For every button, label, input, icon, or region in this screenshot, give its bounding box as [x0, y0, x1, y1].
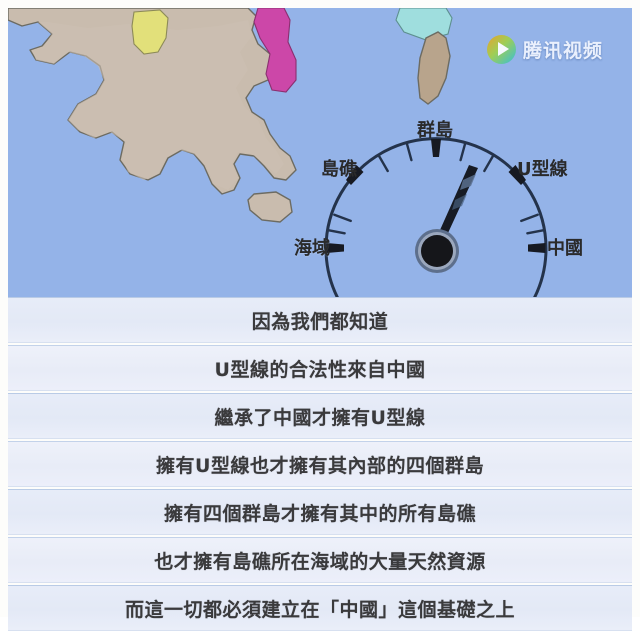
caption-row-5: 擁有四個群島才擁有其中的所有島礁 [8, 489, 632, 535]
watermark-label: 腾讯视频 [523, 36, 603, 63]
caption-text: 因為我們都知道 [252, 307, 389, 334]
gauge-label-zhongguo: 中國 [547, 234, 583, 260]
gauge-label-haiyu: 海域 [294, 234, 330, 260]
caption-text: 繼承了中國才擁有U型線 [215, 403, 426, 430]
gauge-label-daojiao: 島礁 [321, 155, 357, 181]
caption-text: 擁有U型線也才擁有其內部的四個群島 [156, 451, 484, 478]
caption-text: 擁有四個群島才擁有其中的所有島礁 [164, 499, 476, 526]
caption-row-4: 擁有U型線也才擁有其內部的四個群島 [8, 441, 632, 487]
gauge-hub-inner [421, 235, 453, 267]
caption-row-3: 繼承了中國才擁有U型線 [8, 393, 632, 439]
caption-text: 而這一切都必須建立在「中國」這個基礎之上 [125, 595, 515, 622]
gauge-label-qundao: 群島 [417, 116, 453, 142]
caption-row-6: 也才擁有島礁所在海域的大量天然資源 [8, 537, 632, 583]
caption-row-1: 因為我們都知道 [8, 297, 632, 343]
caption-row-7: 而這一切都必須建立在「中國」這個基礎之上 [8, 585, 632, 631]
caption-row-2: U型線的合法性來自中國 [8, 345, 632, 391]
caption-list: 因為我們都知道 U型線的合法性來自中國 繼承了中國才擁有U型線 擁有U型線也才擁… [8, 297, 632, 631]
caption-text: U型線的合法性來自中國 [215, 355, 426, 382]
screenshot-root: 海域 島礁 群島 U型線 中國 腾讯视频 因為我們都知道 U型線的合法性來自中國… [0, 0, 640, 617]
tencent-video-watermark: 腾讯视频 [487, 32, 622, 66]
map-illustration-panel: 海域 島礁 群島 U型線 中國 腾讯视频 [8, 8, 632, 297]
gauge-label-uxian: U型線 [517, 155, 568, 181]
play-badge-icon [487, 35, 516, 64]
caption-text: 也才擁有島礁所在海域的大量天然資源 [154, 547, 486, 574]
